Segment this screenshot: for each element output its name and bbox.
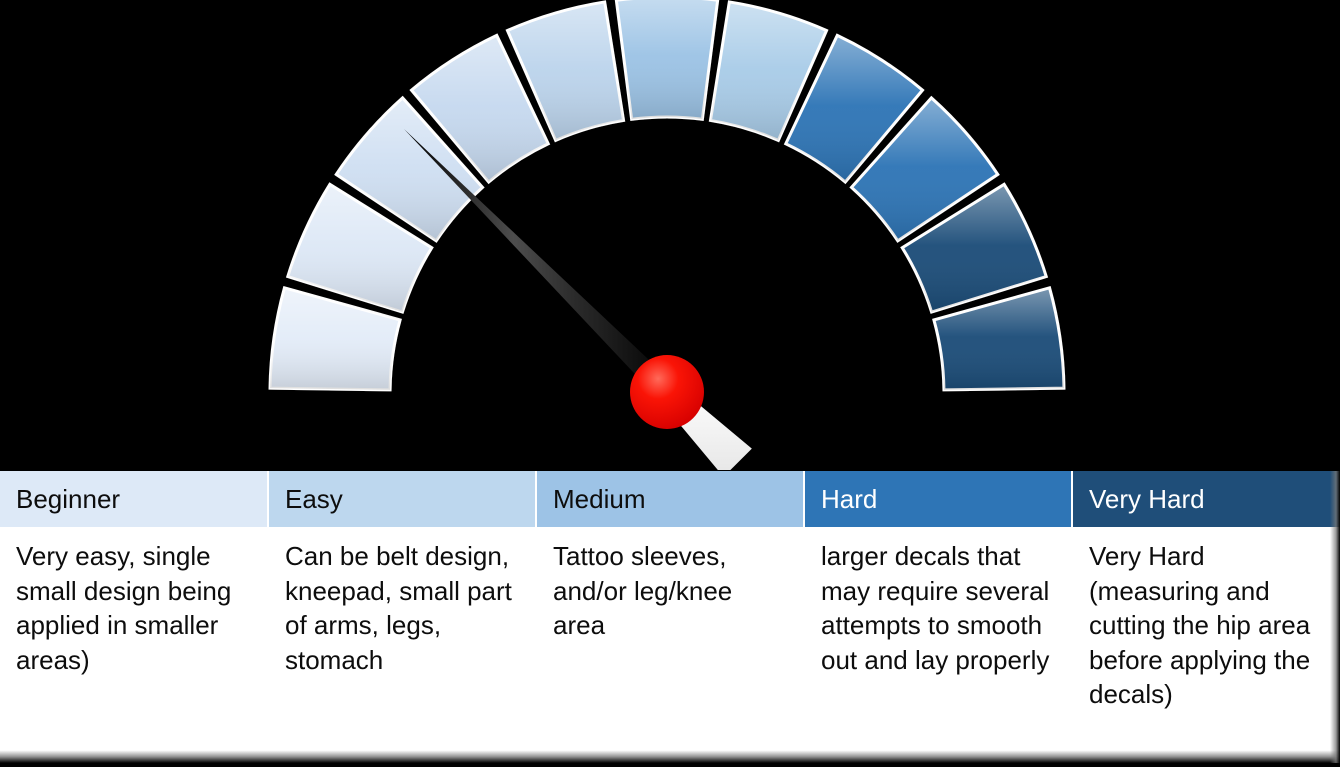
legend-header-hard[interactable]: Hard [804,471,1072,527]
legend-body-row: Very easy, single small design being app… [0,527,1340,754]
slide-canvas: Beginner Easy Medium Hard Very Hard Very… [0,0,1340,767]
needle-pointer [404,129,678,403]
difficulty-legend-table: Beginner Easy Medium Hard Very Hard Very… [0,471,1340,754]
gauge-segment-shade-6 [616,0,717,119]
gauge-segment-group [270,0,1064,390]
needle-hub [630,355,704,429]
legend-cell-hard: larger decals that may require several a… [804,527,1072,754]
difficulty-gauge [0,0,1340,470]
legend-header-row: Beginner Easy Medium Hard Very Hard [0,471,1340,527]
legend-cell-very-hard: Very Hard (measuring and cutting the hip… [1072,527,1340,754]
legend-cell-beginner: Very easy, single small design being app… [0,527,268,754]
legend-header-very-hard[interactable]: Very Hard [1072,471,1340,527]
legend-header-beginner[interactable]: Beginner [0,471,268,527]
gauge-panel [0,0,1340,470]
legend-header-medium[interactable]: Medium [536,471,804,527]
legend-cell-easy: Can be belt design, kneepad, small part … [268,527,536,754]
legend-header-easy[interactable]: Easy [268,471,536,527]
gauge-needle [404,129,752,470]
legend-cell-medium: Tattoo sleeves, and/or leg/knee area [536,527,804,754]
